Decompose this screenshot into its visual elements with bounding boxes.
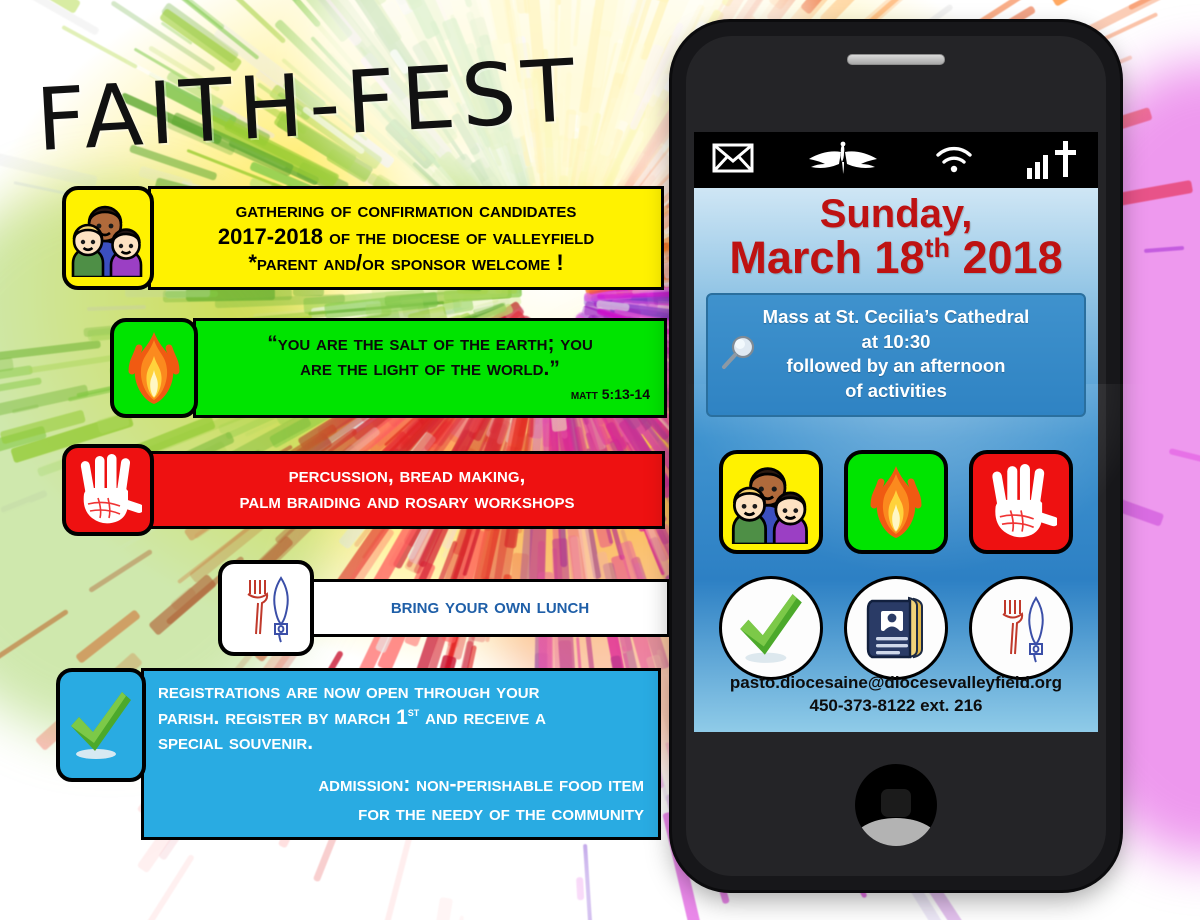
fork-knife-icon	[236, 572, 296, 644]
checkmark-app[interactable]	[719, 576, 823, 680]
event-date: Sunday, March 18th 2018	[702, 194, 1090, 281]
handprint-app[interactable]	[969, 450, 1073, 554]
phone-status-bar	[694, 132, 1098, 188]
green-checkmark-icon	[734, 590, 808, 666]
banner-quote-text: “You are the salt of the Earth; you are …	[193, 318, 667, 418]
admission-line-1: Admission: non-perishable food item	[158, 772, 644, 798]
registration-line-3: special souvenir.	[158, 730, 644, 756]
banner-gathering-text: Gathering of Confirmation Candidates 201…	[148, 186, 664, 290]
people-group-badge	[62, 186, 154, 290]
registration-line-1: Registrations are now open through your	[158, 679, 644, 705]
info-card-line-3: followed by an afternoon	[718, 354, 1074, 379]
event-date-year: 2018	[950, 232, 1063, 283]
quote-citation: Matt 5:13-14	[210, 386, 650, 403]
lunch-app[interactable]	[969, 576, 1073, 680]
app-icon-grid	[708, 450, 1084, 680]
smartphone-mockup: Sunday, March 18th 2018 Mass at St. Ceci…	[672, 22, 1120, 890]
signal-cross-icons	[1026, 140, 1080, 180]
people-group-icon	[730, 460, 812, 544]
handprint-icon	[74, 454, 142, 526]
gathering-line-2: 2017-2018 of the diocese of Valleyfield	[165, 224, 647, 251]
phone-wallpaper: Sunday, March 18th 2018 Mass at St. Ceci…	[694, 188, 1098, 732]
banner-lunch-text: Bring your own lunch	[310, 579, 670, 637]
banner-registration: Registrations are now open through your …	[56, 668, 661, 840]
fork-knife-icon	[991, 592, 1051, 664]
green-checkmark-icon	[66, 688, 136, 762]
poster-canvas: FAITH-FEST	[0, 0, 1200, 920]
home-button-square	[881, 789, 911, 817]
admission-line-2: for the needy of the community	[158, 801, 644, 827]
banner-quote: “You are the salt of the Earth; you are …	[110, 318, 667, 418]
magnifier-icon	[720, 333, 760, 380]
registration-line-2-head: parish. Register by March 1	[158, 706, 408, 729]
quote-line-1: “You are the salt of the Earth; you	[210, 331, 650, 357]
gathering-line-3: *Parent and/or Sponsor welcome !	[165, 250, 647, 277]
event-date-line1: Sunday,	[702, 194, 1090, 235]
banner-workshops: Percussion, bread making, palm braiding …	[62, 444, 665, 536]
registration-line-2: parish. Register by March 1ST and receiv…	[158, 705, 644, 731]
people-group-icon	[71, 199, 145, 277]
banner-registration-text: Registrations are now open through your …	[141, 668, 661, 840]
workshops-line-2: palm braiding and rosary workshops	[166, 489, 648, 515]
home-button[interactable]	[855, 764, 937, 846]
green-checkmark-badge	[56, 668, 146, 782]
envelope-icon	[712, 143, 754, 178]
banner-lunch: Bring your own lunch	[218, 560, 670, 656]
home-button-shading	[855, 818, 937, 846]
contact-phone[interactable]: 450-373-8122 ext. 216	[702, 695, 1090, 718]
event-date-day: March 18	[729, 232, 924, 283]
dove-icon	[805, 140, 881, 181]
event-info-card[interactable]: Mass at St. Cecilia’s Cathedral at 10:30…	[706, 293, 1086, 417]
flame-app[interactable]	[844, 450, 948, 554]
contact-info: pasto.diocesaine@diocesevalleyfield.org …	[702, 672, 1090, 718]
quote-line-2: are the light of the world.”	[210, 356, 650, 382]
wifi-icon	[933, 143, 975, 178]
info-card-line-1: Mass at St. Cecilia’s Cathedral	[718, 305, 1074, 330]
flame-badge	[110, 318, 198, 418]
people-group-app[interactable]	[719, 450, 823, 554]
phone-screen: Sunday, March 18th 2018 Mass at St. Ceci…	[694, 132, 1098, 732]
banner-gathering: Gathering of Confirmation Candidates 201…	[62, 186, 664, 290]
flame-icon	[865, 464, 927, 540]
event-date-ordinal: th	[925, 233, 950, 263]
banner-workshops-text: Percussion, bread making, palm braiding …	[149, 451, 665, 529]
workshops-line-1: Percussion, bread making,	[166, 463, 648, 489]
info-card-line-4: of activities	[718, 379, 1074, 404]
fork-knife-badge	[218, 560, 314, 656]
flame-icon	[123, 330, 185, 406]
handprint-badge	[62, 444, 154, 536]
contacts-app[interactable]	[844, 576, 948, 680]
contact-email[interactable]: pasto.diocesaine@diocesevalleyfield.org	[702, 672, 1090, 695]
handprint-icon	[985, 464, 1057, 540]
info-card-line-2: at 10:30	[718, 330, 1074, 355]
signal-bars-icon	[1027, 155, 1048, 179]
gathering-line-1: Gathering of Confirmation Candidates	[165, 197, 647, 224]
phone-speaker	[847, 54, 945, 65]
cross-icon	[1055, 141, 1076, 177]
event-date-line2: March 18th 2018	[702, 235, 1090, 281]
contact-book-icon	[862, 593, 930, 663]
lunch-line-1: Bring your own lunch	[327, 594, 653, 620]
registration-ordinal: ST	[408, 705, 420, 719]
registration-line-2-tail: and receive a	[419, 706, 546, 729]
